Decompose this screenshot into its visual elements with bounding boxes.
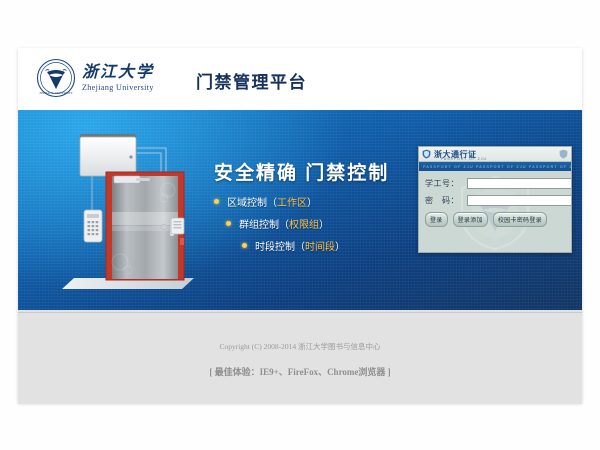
- login-panel: 浙大通行证 PASSPORT OF ZJU PASSPORT OF ZJU PA…: [418, 146, 572, 253]
- banner-headline: 安全精确 门禁控制: [214, 158, 389, 185]
- bullet-dot-icon: [242, 243, 247, 248]
- feature-tail: ）: [319, 216, 329, 231]
- feature-label: 群组控制（: [239, 216, 289, 231]
- feature-label: 区域控制（: [227, 194, 277, 209]
- login-body: 学工号： 密 码： 登录 登录添加 校园卡密码登录: [419, 171, 571, 251]
- bullet-dot-icon: [214, 199, 219, 204]
- shield-icon: [559, 149, 568, 159]
- page-title: 门禁管理平台: [196, 68, 307, 93]
- banner-feature-list: 区域控制（ 工作区 ） 群组控制（ 权限组 ） 时段控制（ 时间段 ）: [214, 194, 424, 260]
- field-row-password: 密 码：: [425, 195, 565, 206]
- login-button[interactable]: 登录: [425, 212, 448, 227]
- browser-recommendation-text: [ 最佳体验：IE9+、FireFox、Chrome浏览器 ]: [18, 365, 582, 378]
- feature-highlight: 工作区: [277, 194, 307, 209]
- feature-item-group: 群组控制（ 权限组 ）: [214, 216, 424, 231]
- shield-icon: [422, 149, 431, 159]
- zju-seal-icon: ZHEJIANG UNIVERSITY: [36, 58, 76, 98]
- bullet-dot-icon: [226, 221, 231, 226]
- feature-item-area: 区域控制（ 工作区 ）: [214, 194, 424, 209]
- copyright-text: Copyright (C) 2008-2014 浙江大学图书与信息中心: [18, 341, 582, 352]
- password-input[interactable]: [467, 195, 572, 206]
- login-strip-text: PASSPORT OF ZJU PASSPORT OF ZJU PASSPORT…: [419, 165, 571, 169]
- login-button-row: 登录 登录添加 校园卡密码登录: [425, 212, 565, 227]
- feature-tail: ）: [307, 194, 317, 209]
- feature-tail: ）: [335, 238, 345, 253]
- page-root: ZHEJIANG UNIVERSITY 浙江大学 Zhejiang Univer…: [0, 0, 600, 450]
- feature-highlight: 权限组: [289, 216, 319, 231]
- svg-text:ZHEJIANG UNIVERSITY: ZHEJIANG UNIVERSITY: [39, 91, 73, 95]
- login-add-button[interactable]: 登录添加: [453, 212, 488, 227]
- hero-banner: 安全精确 门禁控制 区域控制（ 工作区 ） 群组控制（ 权限组 ） 时段控制（ …: [18, 110, 582, 310]
- university-logo[interactable]: ZHEJIANG UNIVERSITY 浙江大学 Zhejiang Univer…: [36, 58, 154, 98]
- site-header: ZHEJIANG UNIVERSITY 浙江大学 Zhejiang Univer…: [18, 48, 582, 111]
- feature-label: 时段控制（: [255, 238, 305, 253]
- access-control-illustration: [44, 126, 204, 298]
- password-label: 密 码：: [425, 195, 467, 206]
- logo-text-cn: 浙江大学: [82, 65, 154, 81]
- username-input[interactable]: [467, 178, 572, 189]
- login-marquee-strip: PASSPORT OF ZJU PASSPORT OF ZJU PASSPORT…: [419, 162, 571, 171]
- username-label: 学工号：: [425, 178, 467, 189]
- site-footer: Copyright (C) 2008-2014 浙江大学图书与信息中心 [ 最佳…: [18, 312, 582, 404]
- feature-highlight: 时间段: [305, 238, 335, 253]
- login-title-en: PASSPORT OF ZJU: [441, 157, 487, 161]
- login-titlebar: 浙大通行证 PASSPORT OF ZJU: [419, 147, 571, 162]
- logo-text-en: Zhejiang University: [82, 84, 154, 92]
- feature-item-time: 时段控制（ 时间段 ）: [214, 238, 424, 253]
- field-row-username: 学工号：: [425, 178, 565, 189]
- campus-card-login-button[interactable]: 校园卡密码登录: [493, 212, 547, 227]
